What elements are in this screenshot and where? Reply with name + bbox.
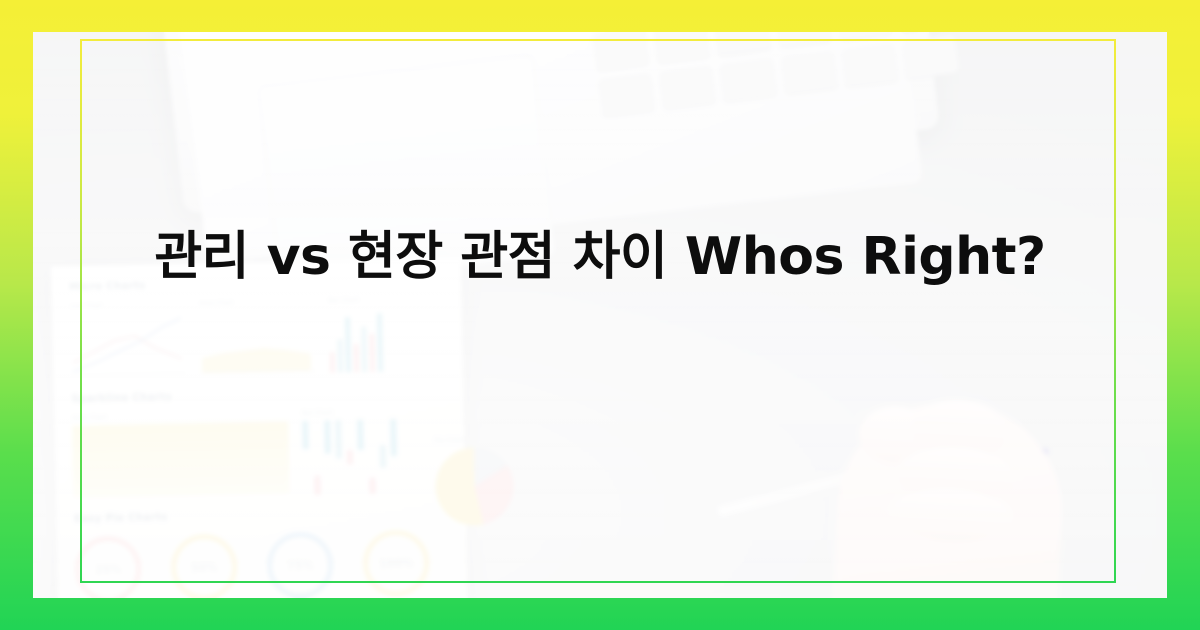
chart-label: Bar Chart: [302, 406, 446, 417]
bar: [329, 352, 334, 373]
keyboard-key: [835, 32, 893, 42]
sparkline-area: [72, 421, 289, 498]
keyboard-key: [896, 32, 954, 35]
keyboard-key: [774, 32, 832, 50]
keyboard-key: [713, 32, 771, 57]
bar: [337, 339, 343, 372]
bar: [345, 317, 351, 372]
keyboard-key: [598, 72, 656, 117]
donut-chart: 100%: [362, 529, 429, 596]
donut-value: 75%: [287, 558, 314, 572]
micro-bar-chart: Bar Chart: [328, 294, 445, 374]
donut-value: 50%: [191, 560, 218, 574]
keyboard-key: [901, 35, 959, 80]
keyboard-key: [658, 65, 716, 110]
bar: [369, 333, 375, 371]
keyboard-key: [592, 32, 650, 72]
bar: [347, 450, 353, 463]
keyboard-key: [719, 58, 777, 103]
bar: [361, 327, 367, 372]
bar: [380, 445, 386, 467]
bar: [324, 421, 331, 454]
page-title: 관리 vs 현장 관점 차이 Whos Right?: [0, 227, 1200, 288]
background-photo: Micro Charts Line Chart Area Chart: [33, 32, 1167, 598]
chart-report-sheet: Micro Charts Line Chart Area Chart: [51, 258, 469, 598]
sparkline-bars: [302, 418, 448, 495]
bar: [314, 476, 320, 495]
micro-charts-row: Line Chart Area Chart Bar Chart: [70, 294, 446, 380]
donut-chart: 25%: [75, 536, 142, 598]
pie-chart-block: Pie Chart: [435, 435, 515, 527]
bar: [302, 421, 309, 449]
bar: [377, 314, 383, 372]
pie-chart: [435, 447, 515, 527]
micro-line-chart: Line Chart: [70, 300, 187, 380]
area-chart-svg: [199, 309, 316, 375]
donut-chart: 75%: [266, 531, 333, 598]
sparkline-area-chart: Area Chart: [72, 409, 290, 500]
report-section-title: Sparkline Charts: [72, 386, 446, 405]
easy-pie-charts-row: 25% 50% 75% 100%: [75, 529, 450, 598]
chart-label: Pie Chart: [435, 435, 513, 445]
bar: [390, 419, 397, 456]
bar: [335, 420, 342, 459]
keyboard-key: [780, 50, 838, 95]
chart-label: Bar Chart: [328, 294, 443, 304]
sparkline-charts-row: Area Chart Bar Chart: [72, 406, 448, 500]
bar: [357, 420, 364, 450]
report-section-title: Easy Pie Charts: [74, 506, 448, 525]
bar: [353, 344, 359, 372]
keyboard-key: [840, 43, 898, 88]
thumbnail-canvas: Micro Charts Line Chart Area Chart: [0, 0, 1200, 630]
micro-area-chart: Area Chart: [199, 297, 316, 377]
keyboard-key: [653, 32, 711, 65]
chart-label: Line Chart: [70, 300, 185, 310]
bar: [369, 477, 375, 493]
donut-value: 25%: [95, 562, 122, 576]
chart-label: Area Chart: [72, 409, 288, 422]
donut-value: 100%: [379, 556, 413, 570]
donut-chart: 50%: [171, 534, 238, 598]
chart-label: Area Chart: [199, 297, 314, 307]
bar-chart-bars: [328, 306, 445, 372]
sparkline-bar-chart: Bar Chart: [302, 406, 448, 495]
line-chart-svg: [70, 312, 187, 378]
